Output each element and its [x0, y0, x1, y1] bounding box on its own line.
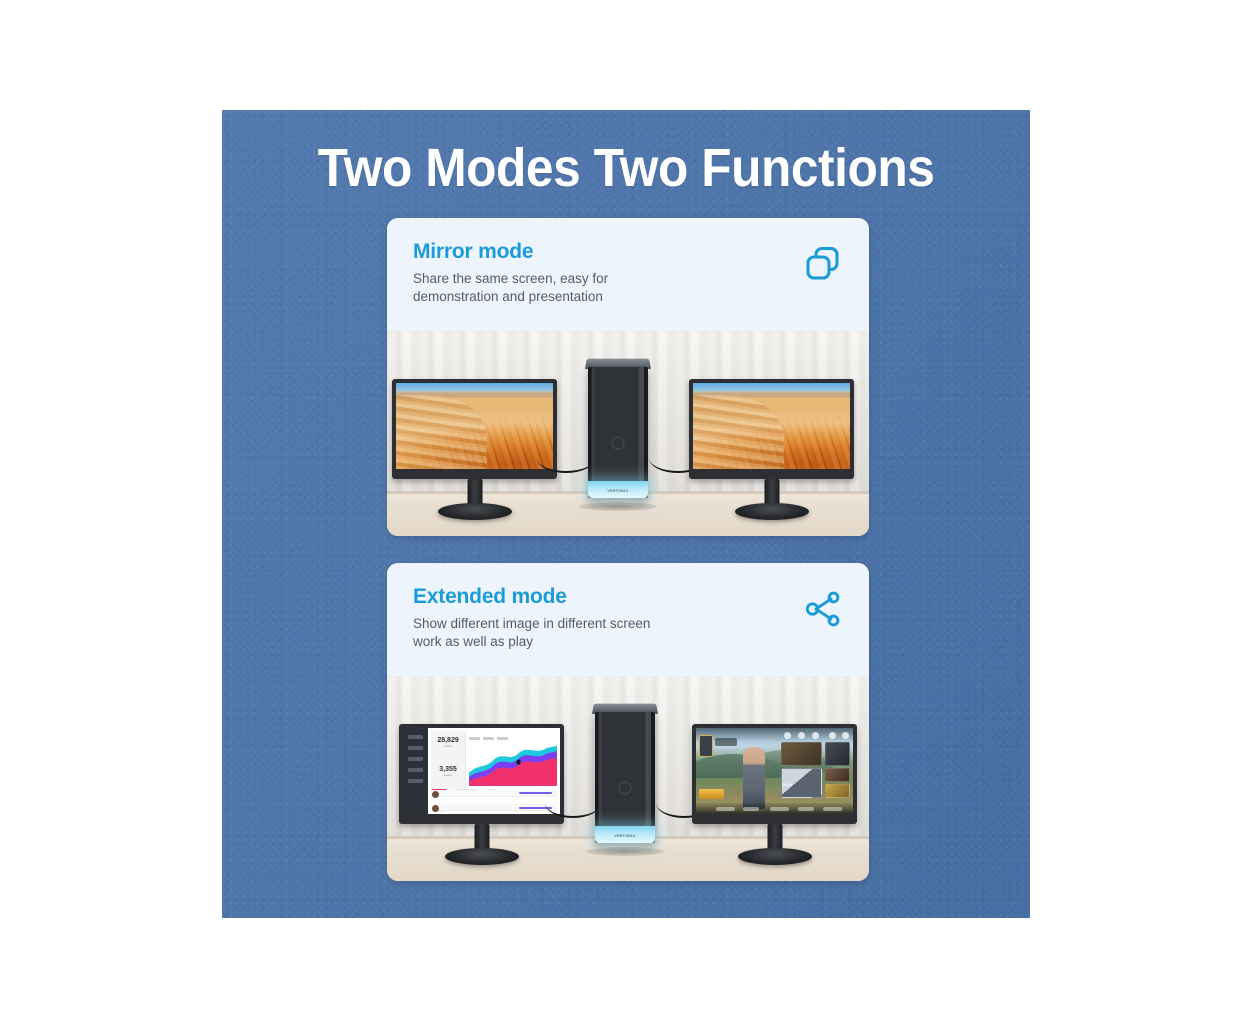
copy-duplicate-icon	[803, 244, 843, 284]
right-monitor: PLAY	[692, 724, 857, 824]
tower-led-glow: VERTIMAX	[588, 481, 648, 498]
desert-canyon-wallpaper	[693, 383, 850, 469]
dashboard-list	[431, 790, 558, 812]
extended-mode-title: Extended mode	[413, 585, 845, 609]
tower-brand-label: VERTIMAX	[614, 834, 635, 838]
left-monitor-screen	[396, 383, 553, 469]
left-monitor	[392, 379, 557, 479]
game-player-avatar[interactable]	[699, 735, 713, 757]
list-item[interactable]	[431, 804, 558, 811]
stat-secondary-label: users	[431, 773, 466, 777]
battle-royale-game-lobby: PLAY	[696, 728, 853, 814]
power-button-icon[interactable]	[612, 436, 625, 449]
pc-tower: VERTIMAX	[585, 356, 651, 498]
dashboard-filter-pills[interactable]	[431, 781, 510, 788]
pc-tower: VERTIMAX	[592, 701, 658, 843]
dashboard-main: 28,829 visits 3,355 users	[428, 728, 560, 814]
game-tile[interactable]	[825, 784, 850, 798]
blue-background-panel: Two Modes Two Functions Mirror mode Shar…	[222, 110, 1030, 918]
left-monitor-screen: 28,829 visits 3,355 users	[403, 728, 560, 814]
tower-brand-label: VERTIMAX	[607, 489, 628, 493]
tower-body: VERTIMAX	[588, 367, 648, 498]
extended-mode-card[interactable]: Extended mode Show different image in di…	[387, 563, 869, 881]
mirror-mode-card[interactable]: Mirror mode Share the same screen, easy …	[387, 218, 869, 536]
desert-canyon-wallpaper	[396, 383, 553, 469]
mirror-mode-title: Mirror mode	[413, 240, 845, 264]
mirror-mode-description: Share the same screen, easy for demonstr…	[413, 270, 743, 306]
mirror-mode-card-header: Mirror mode Share the same screen, easy …	[387, 218, 869, 331]
game-tile[interactable]	[825, 742, 850, 766]
right-monitor-screen: PLAY	[696, 728, 853, 814]
stat-primary-value: 28,829	[431, 737, 466, 744]
dashboard-sidebar	[403, 728, 428, 814]
mirror-mode-photo: VERTIMAX	[387, 331, 869, 536]
game-reward-badge[interactable]	[699, 789, 724, 798]
power-button-icon[interactable]	[619, 781, 632, 794]
stat-secondary-value: 3,355	[431, 766, 466, 773]
game-bottom-bar	[696, 803, 853, 814]
game-player-name	[715, 738, 737, 746]
right-monitor	[689, 379, 854, 479]
extended-mode-photo: 28,829 visits 3,355 users	[387, 676, 869, 881]
analytics-dashboard: 28,829 visits 3,355 users	[403, 728, 560, 814]
dashboard-toolbar	[469, 730, 557, 734]
game-play-tile[interactable]: PLAY	[781, 768, 822, 797]
stat-primary-label: visits	[431, 744, 466, 748]
extended-mode-description: Show different image in different screen…	[413, 615, 743, 651]
right-monitor-screen	[693, 383, 850, 469]
share-network-icon	[803, 589, 843, 629]
dashboard-area-chart	[469, 736, 557, 786]
page-title: Two Modes Two Functions	[254, 140, 997, 197]
game-play-label: PLAY	[783, 782, 793, 787]
infographic-root: Two Modes Two Functions Mirror mode Shar…	[0, 0, 1252, 1024]
game-tile[interactable]	[825, 768, 850, 782]
game-character	[743, 747, 765, 809]
left-monitor: 28,829 visits 3,355 users	[399, 724, 564, 824]
game-tile[interactable]	[781, 742, 822, 766]
tower-body: VERTIMAX	[595, 712, 655, 843]
list-item[interactable]	[431, 790, 558, 797]
tower-led-glow: VERTIMAX	[595, 826, 655, 843]
extended-mode-card-header: Extended mode Show different image in di…	[387, 563, 869, 676]
